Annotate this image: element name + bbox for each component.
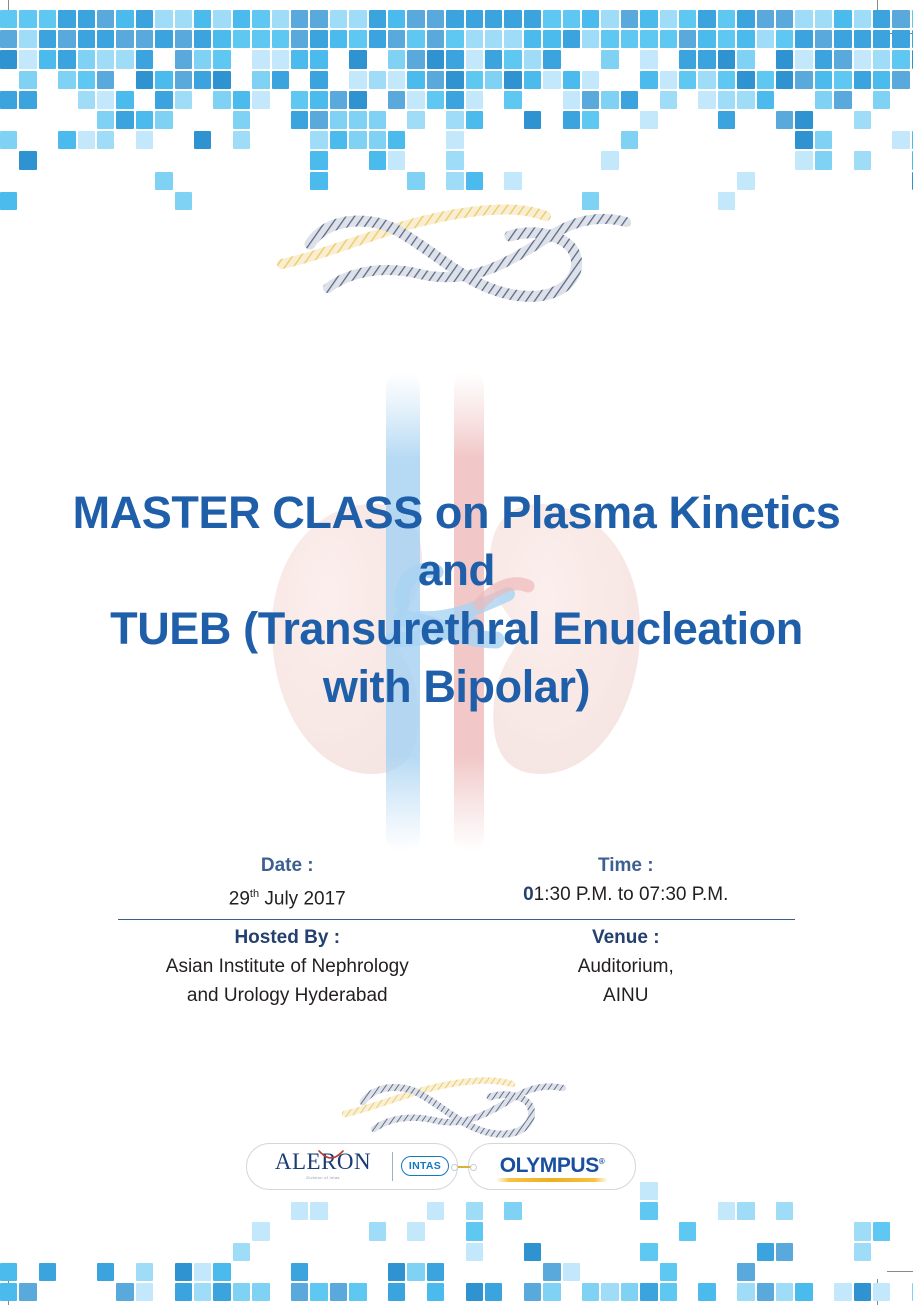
mosaic-tile [737, 172, 754, 190]
mosaic-tile [175, 10, 192, 28]
rope-knot-icon-top [274, 196, 640, 316]
mosaic-tile [233, 111, 250, 129]
details-row-bottom: Hosted By : Asian Institute of Nephrolog… [118, 924, 795, 1010]
mosaic-tile [349, 91, 366, 109]
venue-line-1: Auditorium, [457, 952, 796, 981]
mosaic-tile [524, 30, 541, 48]
mosaic-tile [854, 10, 871, 28]
mosaic-tile [349, 30, 366, 48]
mosaic-tile [660, 10, 677, 28]
mosaic-tile [407, 111, 424, 129]
mosaic-tile [524, 111, 541, 129]
mosaic-tile [213, 91, 230, 109]
mosaic-tile [39, 30, 56, 48]
mosaic-tile [446, 30, 463, 48]
mosaic-tile [718, 111, 735, 129]
mosaic-tile [349, 71, 366, 89]
rope-knot-icon-bottom [340, 1072, 572, 1146]
mosaic-tile [407, 71, 424, 89]
mosaic-tile [757, 30, 774, 48]
mosaic-tile [427, 71, 444, 89]
mosaic-tile [0, 131, 17, 149]
mosaic-tile [640, 1283, 657, 1301]
mosaic-tile [0, 50, 17, 68]
mosaic-tile [233, 1243, 250, 1261]
mosaic-tile [582, 1283, 599, 1301]
event-poster: MASTER CLASS on Plasma Kinetics and TUEB… [0, 0, 913, 1305]
mosaic-tile [563, 111, 580, 129]
mosaic-tile [330, 30, 347, 48]
mosaic-tile [679, 71, 696, 89]
mosaic-tile [892, 50, 909, 68]
logo-connector-icon [451, 1164, 475, 1169]
mosaic-tile [136, 30, 153, 48]
mosaic-tile [485, 50, 502, 68]
mosaic-tile [466, 1283, 483, 1301]
mosaic-tile [349, 1283, 366, 1301]
mosaic-tile [58, 10, 75, 28]
mosaic-tile [795, 1283, 812, 1301]
mosaic-tile [504, 91, 521, 109]
aleron-swoosh-icon [318, 1146, 344, 1155]
mosaic-tile [737, 10, 754, 28]
mosaic-tile [116, 1283, 133, 1301]
mosaic-tile [660, 1263, 677, 1281]
mosaic-tile [213, 30, 230, 48]
mosaic-tile [388, 1283, 405, 1301]
mosaic-tile [58, 131, 75, 149]
mosaic-tile [213, 1283, 230, 1301]
mosaic-tile [310, 50, 327, 68]
mosaic-tile [524, 50, 541, 68]
mosaic-tile [407, 10, 424, 28]
mosaic-tile [466, 91, 483, 109]
mosaic-tile [485, 30, 502, 48]
mosaic-tile [233, 91, 250, 109]
mosaic-tile [388, 30, 405, 48]
mosaic-tile [718, 50, 735, 68]
mosaic-tile [446, 91, 463, 109]
mosaic-tile [582, 71, 599, 89]
mosaic-tile [854, 1222, 871, 1240]
mosaic-tile [252, 91, 269, 109]
mosaic-tile [58, 50, 75, 68]
mosaic-tile [892, 131, 909, 149]
mosaic-tile [854, 50, 871, 68]
detail-date: Date : 29th July 2017 [118, 852, 457, 913]
mosaic-tile [427, 50, 444, 68]
mosaic-tile [291, 50, 308, 68]
mosaic-tile [233, 10, 250, 28]
mosaic-tile [407, 30, 424, 48]
mosaic-tile [621, 131, 638, 149]
mosaic-tile [698, 10, 715, 28]
mosaic-tile [776, 30, 793, 48]
mosaic-tile [427, 1263, 444, 1281]
mosaic-tile [388, 1263, 405, 1281]
mosaic-tile [640, 111, 657, 129]
mosaic-tile [194, 71, 211, 89]
mosaic-tile [601, 151, 618, 169]
mosaic-tile [854, 30, 871, 48]
mosaic-tile [524, 1243, 541, 1261]
mosaic-tile [252, 1222, 269, 1240]
mosaic-tile [213, 50, 230, 68]
mosaic-tile [524, 10, 541, 28]
mosaic-tile [155, 172, 172, 190]
mosaic-tile [466, 50, 483, 68]
mosaic-tile [272, 71, 289, 89]
mosaic-tile [776, 71, 793, 89]
mosaic-tile [815, 10, 832, 28]
mosaic-tile [698, 50, 715, 68]
mosaic-tile [330, 10, 347, 28]
hosted-by-line-2: and Urology Hyderabad [118, 981, 457, 1010]
mosaic-tile [543, 1263, 560, 1281]
mosaic-tile [601, 1283, 618, 1301]
mosaic-tile [660, 91, 677, 109]
olympus-logo: OLYMPUS® [484, 1151, 620, 1182]
mosaic-tile [737, 50, 754, 68]
event-details: Date : 29th July 2017 Time : 01:30 P.M. … [118, 852, 795, 1010]
mosaic-tile [19, 50, 36, 68]
mosaic-tile [854, 111, 871, 129]
mosaic-tile [427, 10, 444, 28]
mosaic-tile [388, 50, 405, 68]
detail-venue: Venue : Auditorium, AINU [457, 924, 796, 1010]
mosaic-tile [407, 50, 424, 68]
mosaic-tile [776, 1243, 793, 1261]
mosaic-tile [504, 10, 521, 28]
mosaic-tile [504, 1202, 521, 1220]
mosaic-tile [175, 91, 192, 109]
title-line-3: TUEB (Transurethral Enucleation [0, 600, 913, 658]
hosted-by-label: Hosted By : [118, 924, 457, 952]
mosaic-tile [407, 91, 424, 109]
olympus-wordmark: OLYMPUS® [484, 1151, 620, 1177]
mosaic-tile [136, 1263, 153, 1281]
venue-line-2: AINU [457, 981, 796, 1010]
mosaic-tile [698, 30, 715, 48]
mosaic-tile [679, 50, 696, 68]
mosaic-tile [737, 1283, 754, 1301]
mosaic-tile [660, 1283, 677, 1301]
hosted-by-line-1: Asian Institute of Nephrology [118, 952, 457, 981]
mosaic-tile [407, 1263, 424, 1281]
mosaic-tile [563, 91, 580, 109]
mosaic-tile [466, 71, 483, 89]
mosaic-tile [660, 71, 677, 89]
mosaic-tile [543, 71, 560, 89]
mosaic-tile [0, 1283, 17, 1301]
mosaic-tile [621, 91, 638, 109]
mosaic-tile [776, 1283, 793, 1301]
mosaic-tile [466, 1202, 483, 1220]
mosaic-tile [407, 1222, 424, 1240]
blue-square-mosaic-top [0, 10, 913, 220]
mosaic-tile [291, 111, 308, 129]
mosaic-tile [194, 50, 211, 68]
mosaic-tile [19, 151, 36, 169]
mosaic-tile [136, 50, 153, 68]
mosaic-tile [427, 1202, 444, 1220]
mosaic-tile [446, 50, 463, 68]
mosaic-tile [795, 131, 812, 149]
mosaic-tile [834, 10, 851, 28]
mosaic-tile [252, 50, 269, 68]
mosaic-tile [563, 1263, 580, 1281]
mosaic-tile [155, 71, 172, 89]
mosaic-tile [369, 151, 386, 169]
mosaic-tile [19, 1283, 36, 1301]
mosaic-tile [291, 30, 308, 48]
mosaic-tile [854, 151, 871, 169]
mosaic-tile [194, 30, 211, 48]
venue-label: Venue : [457, 924, 796, 952]
mosaic-tile [524, 1283, 541, 1301]
mosaic-tile [718, 10, 735, 28]
mosaic-tile [446, 131, 463, 149]
mosaic-tile [194, 1283, 211, 1301]
mosaic-tile [175, 71, 192, 89]
mosaic-tile [97, 111, 114, 129]
mosaic-tile [640, 50, 657, 68]
mosaic-tile [194, 10, 211, 28]
mosaic-tile [427, 91, 444, 109]
mosaic-tile [388, 10, 405, 28]
mosaic-tile [97, 71, 114, 89]
mosaic-tile [834, 50, 851, 68]
mosaic-tile [310, 91, 327, 109]
time-lead-digit: 0 [523, 884, 534, 905]
time-label: Time : [457, 852, 796, 880]
mosaic-tile [718, 1202, 735, 1220]
mosaic-tile [834, 91, 851, 109]
mosaic-tile [737, 1263, 754, 1281]
mosaic-tile [388, 151, 405, 169]
mosaic-tile [815, 151, 832, 169]
mosaic-tile [446, 111, 463, 129]
title-line-2: and [0, 542, 913, 600]
mosaic-tile [640, 1243, 657, 1261]
mosaic-tile [466, 172, 483, 190]
mosaic-tile [834, 30, 851, 48]
mosaic-tile [757, 10, 774, 28]
mosaic-tile [291, 10, 308, 28]
mosaic-tile [310, 151, 327, 169]
mosaic-tile [757, 91, 774, 109]
mosaic-tile [640, 1202, 657, 1220]
mosaic-tile [504, 172, 521, 190]
mosaic-tile [0, 30, 17, 48]
date-ordinal: th [250, 888, 259, 900]
mosaic-tile [466, 1222, 483, 1240]
mosaic-tile [58, 30, 75, 48]
mosaic-tile [446, 71, 463, 89]
mosaic-tile [427, 30, 444, 48]
title-line-1: MASTER CLASS on Plasma Kinetics [0, 484, 913, 542]
mosaic-tile [407, 172, 424, 190]
date-day: 29 [229, 888, 250, 909]
mosaic-tile [815, 91, 832, 109]
mosaic-tile [78, 30, 95, 48]
mosaic-tile [815, 131, 832, 149]
mosaic-tile [330, 1283, 347, 1301]
mosaic-tile [369, 71, 386, 89]
mosaic-tile [116, 91, 133, 109]
mosaic-tile [873, 91, 890, 109]
mosaic-tile [679, 1222, 696, 1240]
mosaic-tile [97, 10, 114, 28]
mosaic-tile [369, 30, 386, 48]
mosaic-tile [388, 71, 405, 89]
mosaic-tile [737, 71, 754, 89]
mosaic-tile [543, 10, 560, 28]
mosaic-tile [349, 10, 366, 28]
mosaic-tile [97, 30, 114, 48]
mosaic-tile [640, 1182, 657, 1200]
mosaic-tile [310, 172, 327, 190]
mosaic-tile [0, 91, 17, 109]
mosaic-tile [679, 10, 696, 28]
mosaic-tile [485, 1283, 502, 1301]
mosaic-tile [543, 50, 560, 68]
date-label: Date : [118, 852, 457, 880]
mosaic-tile [97, 1263, 114, 1281]
mosaic-tile [291, 91, 308, 109]
mosaic-tile [563, 10, 580, 28]
mosaic-tile [272, 50, 289, 68]
poster-title: MASTER CLASS on Plasma Kinetics and TUEB… [0, 484, 913, 716]
mosaic-tile [834, 71, 851, 89]
mosaic-tile [233, 30, 250, 48]
mosaic-tile [213, 10, 230, 28]
mosaic-tile [58, 71, 75, 89]
mosaic-tile [446, 172, 463, 190]
mosaic-tile [310, 111, 327, 129]
mosaic-tile [640, 10, 657, 28]
mosaic-tile [718, 30, 735, 48]
mosaic-tile [330, 131, 347, 149]
mosaic-tile [233, 1283, 250, 1301]
mosaic-tile [39, 50, 56, 68]
mosaic-tile [795, 151, 812, 169]
mosaic-tile [330, 91, 347, 109]
mosaic-tile [737, 30, 754, 48]
mosaic-tile [252, 1283, 269, 1301]
mosaic-tile [582, 91, 599, 109]
mosaic-tile [116, 50, 133, 68]
mosaic-tile [78, 131, 95, 149]
time-value: 01:30 P.M. to 07:30 P.M. [457, 880, 796, 909]
mosaic-tile [252, 10, 269, 28]
mosaic-tile [776, 1202, 793, 1220]
mosaic-tile [78, 91, 95, 109]
mosaic-tile [175, 50, 192, 68]
logo-divider [392, 1152, 393, 1181]
mosaic-tile [504, 50, 521, 68]
mosaic-tile [660, 30, 677, 48]
mosaic-tile [97, 50, 114, 68]
mosaic-tile [136, 1283, 153, 1301]
mosaic-tile [116, 30, 133, 48]
mosaic-tile [97, 131, 114, 149]
mosaic-tile [446, 151, 463, 169]
mosaic-tile [698, 91, 715, 109]
mosaic-tile [349, 50, 366, 68]
mosaic-tile [39, 1263, 56, 1281]
mosaic-tile [737, 91, 754, 109]
mosaic-tile [563, 71, 580, 89]
mosaic-tile [310, 1283, 327, 1301]
mosaic-tile [698, 71, 715, 89]
details-divider [118, 919, 795, 920]
mosaic-tile [854, 71, 871, 89]
mosaic-tile [252, 30, 269, 48]
mosaic-tile [873, 50, 890, 68]
mosaic-tile [330, 111, 347, 129]
mosaic-tile [272, 10, 289, 28]
mosaic-tile [349, 111, 366, 129]
mosaic-tile [175, 1263, 192, 1281]
mosaic-tile [524, 71, 541, 89]
mosaic-tile [291, 1263, 308, 1281]
mosaic-tile [175, 192, 192, 210]
mosaic-tile [466, 10, 483, 28]
mosaic-tile [621, 1283, 638, 1301]
mosaic-tile [369, 111, 386, 129]
mosaic-tile [78, 50, 95, 68]
mosaic-tile [136, 71, 153, 89]
mosaic-tile [873, 10, 890, 28]
mosaic-tile [175, 30, 192, 48]
mosaic-tile [601, 91, 618, 109]
detail-time: Time : 01:30 P.M. to 07:30 P.M. [457, 852, 796, 913]
mosaic-tile [97, 91, 114, 109]
mosaic-tile [194, 1263, 211, 1281]
mosaic-tile [213, 71, 230, 89]
mosaic-tile [601, 10, 618, 28]
mosaic-tile [601, 30, 618, 48]
mosaic-tile [737, 1202, 754, 1220]
mosaic-tile [815, 30, 832, 48]
mosaic-tile [718, 71, 735, 89]
mosaic-tile [310, 71, 327, 89]
mosaic-tile [155, 111, 172, 129]
mosaic-tile [679, 30, 696, 48]
mosaic-tile [795, 50, 812, 68]
mosaic-tile [795, 30, 812, 48]
mosaic-tile [892, 71, 909, 89]
mosaic-tile [136, 10, 153, 28]
mosaic-tile [582, 111, 599, 129]
mosaic-tile [155, 30, 172, 48]
mosaic-tile [446, 10, 463, 28]
mosaic-tile [466, 30, 483, 48]
mosaic-tile [272, 30, 289, 48]
mosaic-tile [19, 71, 36, 89]
mosaic-tile [504, 71, 521, 89]
mosaic-tile [892, 30, 909, 48]
mosaic-tile [698, 1283, 715, 1301]
mosaic-tile [854, 1243, 871, 1261]
mosaic-tile [310, 30, 327, 48]
mosaic-tile [78, 71, 95, 89]
mosaic-tile [116, 10, 133, 28]
mosaic-tile [310, 1202, 327, 1220]
mosaic-tile [485, 71, 502, 89]
mosaic-tile [873, 30, 890, 48]
